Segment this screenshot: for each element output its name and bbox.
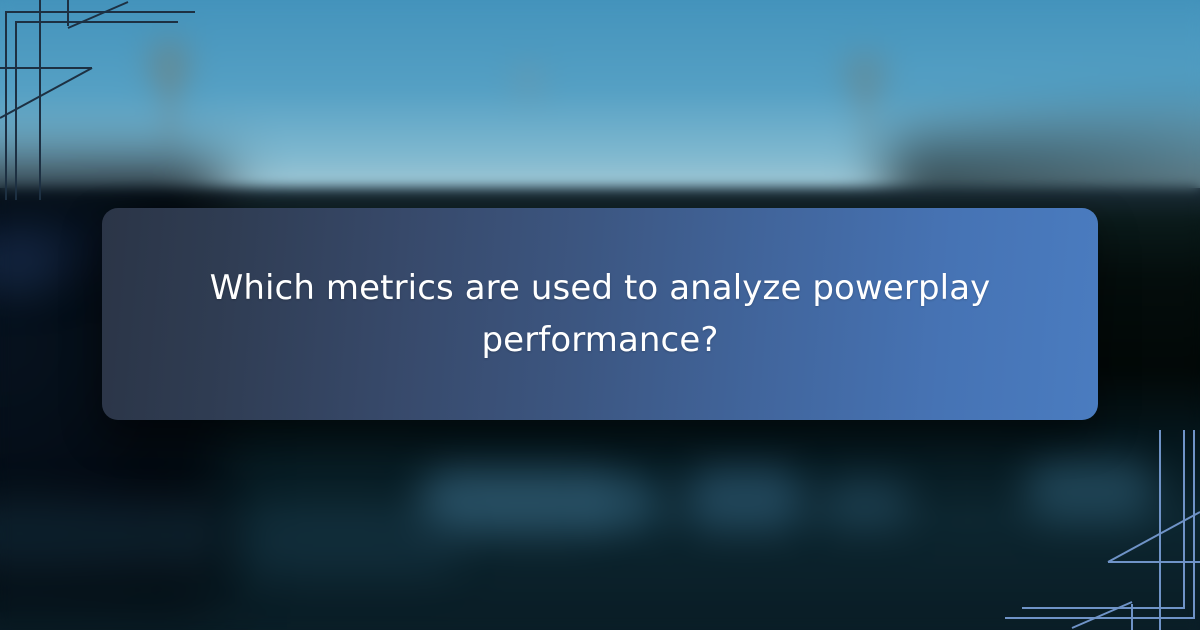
question-card: Which metrics are used to analyze powerp… xyxy=(102,208,1098,420)
question-text: Which metrics are used to analyze powerp… xyxy=(198,262,1002,366)
question-card-slide: Which metrics are used to analyze powerp… xyxy=(0,0,1200,630)
corner-bracket-top-left-icon xyxy=(0,0,210,200)
corner-bracket-bottom-right-icon xyxy=(990,430,1200,630)
